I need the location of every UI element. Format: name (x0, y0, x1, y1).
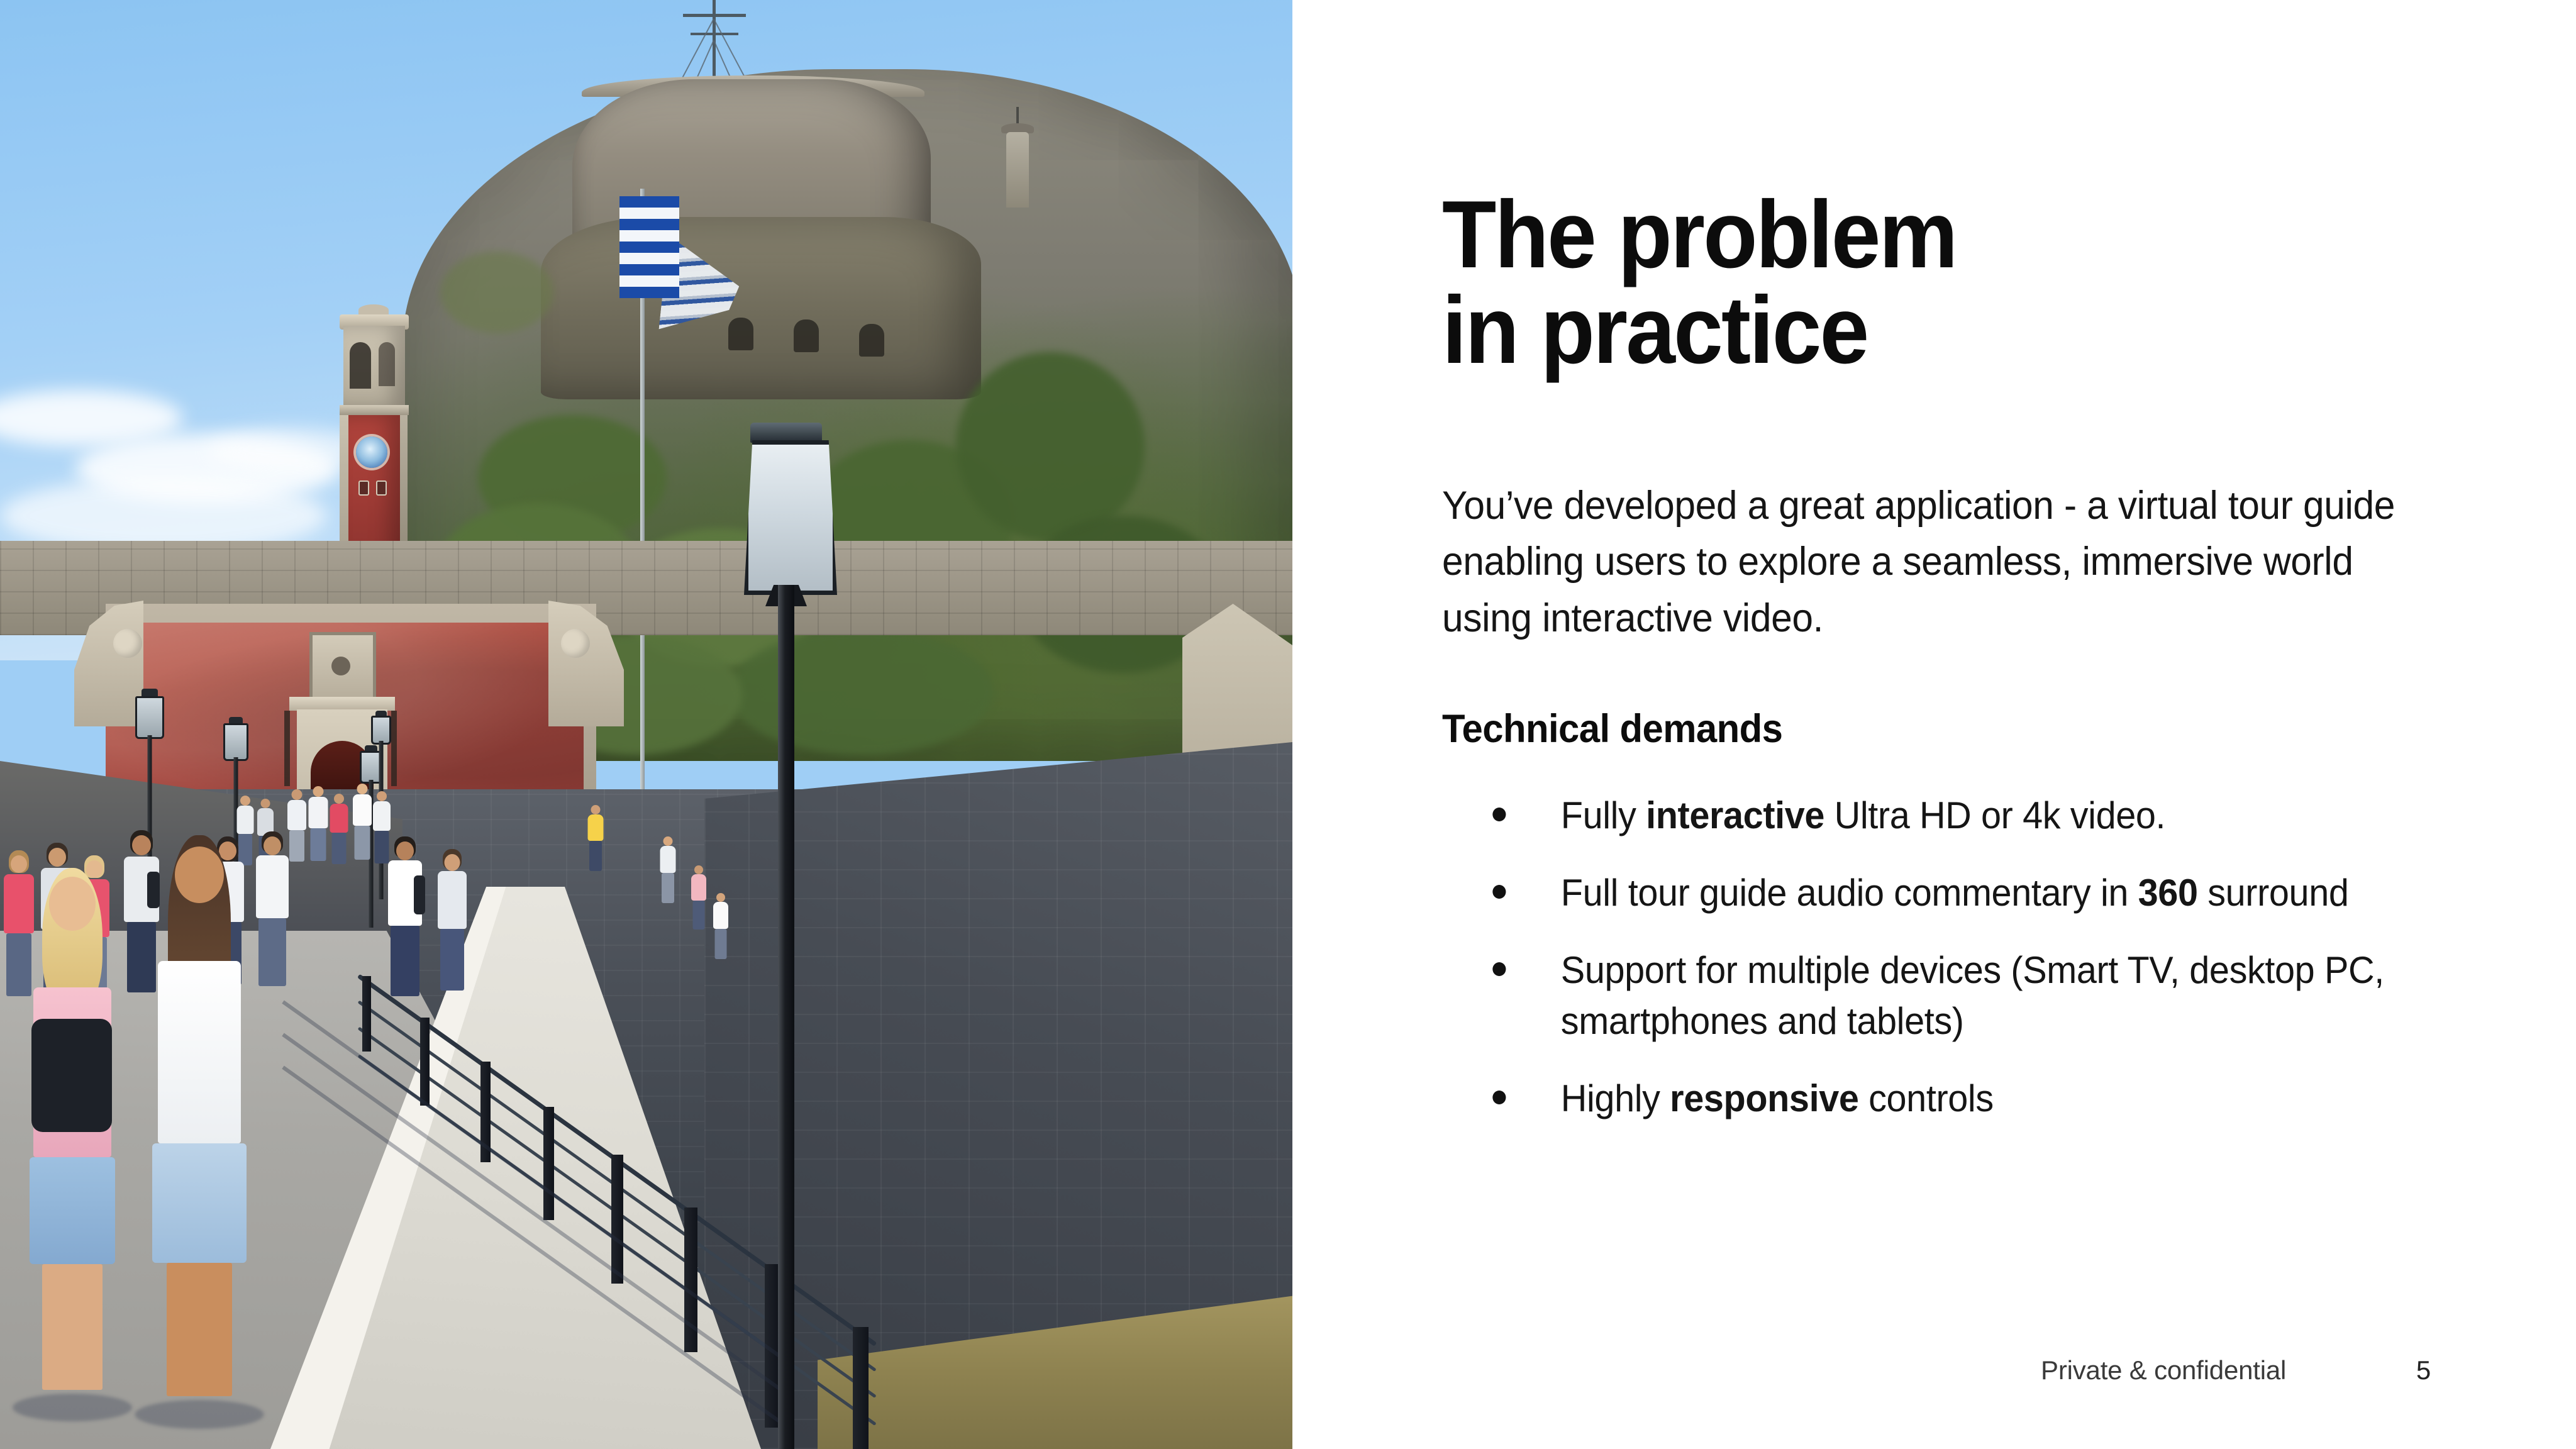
bullet-dot-icon (1492, 808, 1506, 821)
clock-face (356, 436, 387, 468)
gate-crest (309, 632, 376, 701)
citadel-lower-bastion (541, 217, 981, 399)
list-item: Full tour guide audio commentary in 360 … (1467, 867, 2494, 918)
person (384, 836, 426, 999)
technical-demands-heading: Technical demands (1442, 706, 2279, 753)
bullet-dot-icon (1492, 962, 1506, 976)
tower-cornice (340, 405, 409, 415)
person (327, 794, 351, 868)
list-item-text: Fully (1561, 794, 1646, 836)
mast-crossbar (691, 33, 738, 35)
person-foreground (133, 835, 265, 1426)
person-foreground (13, 868, 132, 1421)
person (434, 849, 470, 992)
list-item: Fully interactive Ultra HD or 4k video. (1467, 790, 2494, 841)
vegetation (956, 352, 1145, 541)
facade-medallion (113, 629, 142, 658)
tower-window (358, 480, 369, 496)
tower-window (376, 480, 387, 496)
list-item-text: Highly (1561, 1077, 1670, 1119)
embrasure (859, 324, 884, 357)
emphasis-text: responsive (1670, 1077, 1858, 1119)
crest-emblem (331, 657, 350, 675)
technical-demands-list: Fully interactive Ultra HD or 4k video.F… (1442, 790, 2536, 1150)
confidentiality-note: Private & confidential (2041, 1355, 2286, 1385)
fortress-photo (0, 0, 1292, 1449)
bullet-dot-icon (1492, 885, 1506, 899)
belfry-arch (379, 342, 395, 386)
title-line-2: in practice (1442, 277, 1867, 384)
greek-flag (619, 196, 679, 297)
page-number: 5 (2416, 1355, 2431, 1385)
lamp-cap (750, 423, 822, 443)
person (585, 805, 606, 874)
list-item: Support for multiple devices (Smart TV, … (1467, 945, 2494, 1046)
person (657, 836, 679, 907)
clock-tower (340, 326, 408, 571)
content-panel: The problem in practice You’ve developed… (1292, 0, 2576, 1449)
mast-crossbar (683, 14, 746, 17)
intro-paragraph: You’ve developed a great application - a… (1442, 478, 2445, 647)
lamp-lantern (744, 440, 837, 595)
list-item: Highly responsive controls (1467, 1073, 2494, 1124)
page-title: The problem in practice (1442, 187, 2319, 378)
list-item-text: controls (1859, 1077, 1994, 1119)
list-item-text: surround (2198, 872, 2349, 914)
emphasis-text: 360 (2138, 872, 2198, 914)
embrasure (728, 318, 753, 350)
emphasis-text: interactive (1646, 794, 1824, 836)
lamp-pole (778, 585, 794, 1449)
embrasure (794, 319, 819, 352)
slide: The problem in practice You’ve developed… (0, 0, 2576, 1449)
gate-slit (284, 711, 290, 786)
bullet-dot-icon (1492, 1091, 1506, 1104)
gate-lintel (289, 697, 395, 711)
slide-footer: Private & confidential 5 (2041, 1355, 2481, 1393)
list-item-text: Full tour guide audio commentary in (1561, 872, 2138, 914)
list-item-text: Ultra HD or 4k video. (1824, 794, 2165, 836)
street-lamp-foreground (739, 428, 833, 1449)
person (711, 893, 731, 962)
vegetation (440, 252, 553, 333)
title-line-1: The problem (1442, 181, 1957, 288)
person (689, 865, 709, 933)
list-item-text: Support for multiple devices (Smart TV, … (1561, 949, 2384, 1042)
belfry-arch (350, 342, 371, 389)
facade-medallion (561, 629, 590, 658)
lighthouse-turret (1006, 132, 1029, 208)
